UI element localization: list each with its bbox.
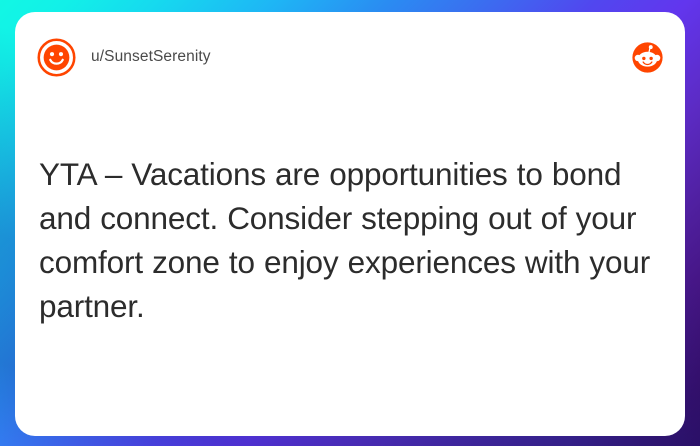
username-label: u/SunsetSerenity bbox=[91, 48, 211, 66]
reddit-logo-button[interactable] bbox=[632, 42, 663, 73]
reddit-snoo-logo-icon bbox=[632, 42, 663, 73]
smiley-face-avatar-icon bbox=[37, 38, 76, 77]
post-header: u/SunsetSerenity bbox=[37, 33, 663, 81]
avatar[interactable] bbox=[37, 38, 76, 77]
screenshot-canvas: u/SunsetSerenity bbox=[0, 0, 700, 446]
reddit-post-card: u/SunsetSerenity bbox=[15, 12, 685, 436]
post-text: YTA – Vacations are opportunities to bon… bbox=[39, 152, 661, 328]
